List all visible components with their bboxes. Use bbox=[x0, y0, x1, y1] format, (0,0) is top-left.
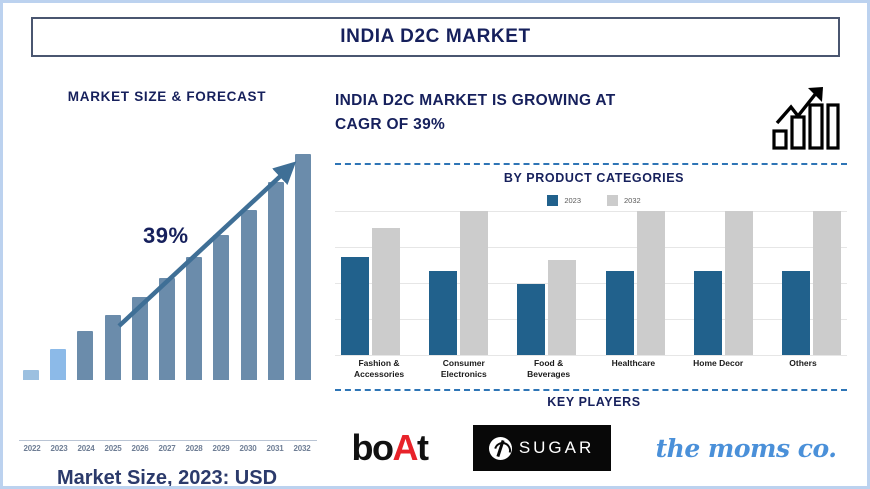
gridline bbox=[335, 355, 847, 356]
right-heading-line-1: INDIA D2C MARKET IS GROWING AT bbox=[335, 92, 616, 109]
key-players-label: KEY PLAYERS bbox=[329, 395, 859, 409]
market-size-bar bbox=[295, 154, 311, 380]
category-group bbox=[782, 211, 841, 355]
market-size-bars bbox=[19, 130, 315, 380]
year-label: 2029 bbox=[209, 444, 233, 453]
page-title-box: INDIA D2C MARKET bbox=[31, 17, 840, 57]
category-group bbox=[341, 211, 400, 355]
category-group bbox=[429, 211, 488, 355]
category-label: ConsumerElectronics bbox=[422, 358, 506, 380]
sugar-logo: SUGAR bbox=[473, 425, 611, 471]
market-size-bar-chart bbox=[19, 130, 315, 380]
year-label: 2032 bbox=[290, 444, 314, 453]
product-categories-bar-chart bbox=[335, 211, 847, 355]
year-label: 2031 bbox=[263, 444, 287, 453]
left-chart-axis bbox=[19, 440, 317, 441]
boat-logo-part-1: bo bbox=[352, 427, 393, 468]
category-label: Healthcare bbox=[591, 358, 675, 380]
category-bar-2023 bbox=[341, 257, 369, 355]
boat-logo-part-2: A bbox=[393, 427, 418, 468]
market-size-bar bbox=[50, 349, 66, 380]
market-size-forecast-panel: MARKET SIZE & FORECAST 39% 2022202320242… bbox=[11, 75, 323, 483]
boat-logo: boAt bbox=[352, 427, 428, 469]
market-size-bar bbox=[105, 315, 121, 380]
divider-top bbox=[335, 163, 847, 165]
bar-chart-growth-icon bbox=[771, 85, 841, 151]
category-bar-groups bbox=[335, 211, 847, 355]
category-label: Others bbox=[761, 358, 845, 380]
category-group bbox=[517, 211, 576, 355]
infographic-canvas: INDIA D2C MARKET MARKET SIZE & FORECAST … bbox=[0, 0, 870, 489]
market-size-bar bbox=[186, 257, 202, 380]
right-heading-line-2: CAGR OF 39% bbox=[335, 116, 445, 133]
year-label: 2024 bbox=[74, 444, 98, 453]
market-size-bar bbox=[213, 235, 229, 380]
year-label: 2022 bbox=[20, 444, 44, 453]
year-axis-labels: 2022202320242025202620272028202920302031… bbox=[19, 444, 315, 453]
year-label: 2025 bbox=[101, 444, 125, 453]
divider-bottom bbox=[335, 389, 847, 391]
product-categories-panel: INDIA D2C MARKET IS GROWING AT CAGR OF 3… bbox=[329, 75, 859, 483]
category-axis-labels: Fashion &AccessoriesConsumerElectronicsF… bbox=[335, 358, 847, 380]
category-group bbox=[606, 211, 665, 355]
market-size-callout: Market Size, 2023: USD 16,850 Million bbox=[11, 465, 323, 489]
category-label: Food &Beverages bbox=[507, 358, 591, 380]
category-bar-2032 bbox=[460, 211, 488, 355]
category-label: Fashion &Accessories bbox=[337, 358, 421, 380]
category-bar-2023 bbox=[517, 284, 545, 355]
market-size-bar bbox=[241, 210, 257, 380]
page-title: INDIA D2C MARKET bbox=[340, 26, 530, 48]
by-product-categories-label: BY PRODUCT CATEGORIES bbox=[329, 171, 859, 185]
legend-label: 2032 bbox=[624, 196, 641, 205]
category-bar-2032 bbox=[637, 211, 665, 355]
chart-legend: 20232032 bbox=[329, 195, 859, 206]
market-size-bar bbox=[268, 182, 284, 380]
market-size-bar bbox=[159, 278, 175, 380]
sugar-logo-mark-icon bbox=[489, 437, 512, 460]
market-size-line-1: Market Size, 2023: USD bbox=[57, 467, 277, 489]
market-size-bar bbox=[23, 370, 39, 380]
legend-swatch bbox=[607, 195, 618, 206]
year-label: 2026 bbox=[128, 444, 152, 453]
category-bar-2023 bbox=[606, 271, 634, 355]
category-label: Home Decor bbox=[676, 358, 760, 380]
year-label: 2023 bbox=[47, 444, 71, 453]
key-players-logos: boAt SUGAR the moms co. bbox=[329, 415, 859, 481]
right-panel-heading: INDIA D2C MARKET IS GROWING AT CAGR OF 3… bbox=[335, 89, 735, 137]
category-bar-2032 bbox=[813, 211, 841, 355]
category-group bbox=[694, 211, 753, 355]
legend-item: 2032 bbox=[607, 195, 641, 206]
year-label: 2030 bbox=[236, 444, 260, 453]
category-bar-2032 bbox=[725, 211, 753, 355]
market-size-bar bbox=[132, 297, 148, 380]
legend-swatch bbox=[547, 195, 558, 206]
left-panel-heading: MARKET SIZE & FORECAST bbox=[11, 89, 323, 104]
category-bar-2032 bbox=[372, 228, 400, 355]
market-size-bar bbox=[77, 331, 93, 380]
moms-co-logo: the moms co. bbox=[656, 434, 837, 463]
category-bar-2023 bbox=[782, 271, 810, 355]
category-bar-2023 bbox=[429, 271, 457, 355]
year-label: 2027 bbox=[155, 444, 179, 453]
sugar-logo-text: SUGAR bbox=[519, 438, 594, 458]
category-bar-2023 bbox=[694, 271, 722, 355]
year-label: 2028 bbox=[182, 444, 206, 453]
category-bar-2032 bbox=[548, 260, 576, 355]
legend-label: 2023 bbox=[564, 196, 581, 205]
boat-logo-part-3: t bbox=[417, 427, 428, 468]
legend-item: 2023 bbox=[547, 195, 581, 206]
